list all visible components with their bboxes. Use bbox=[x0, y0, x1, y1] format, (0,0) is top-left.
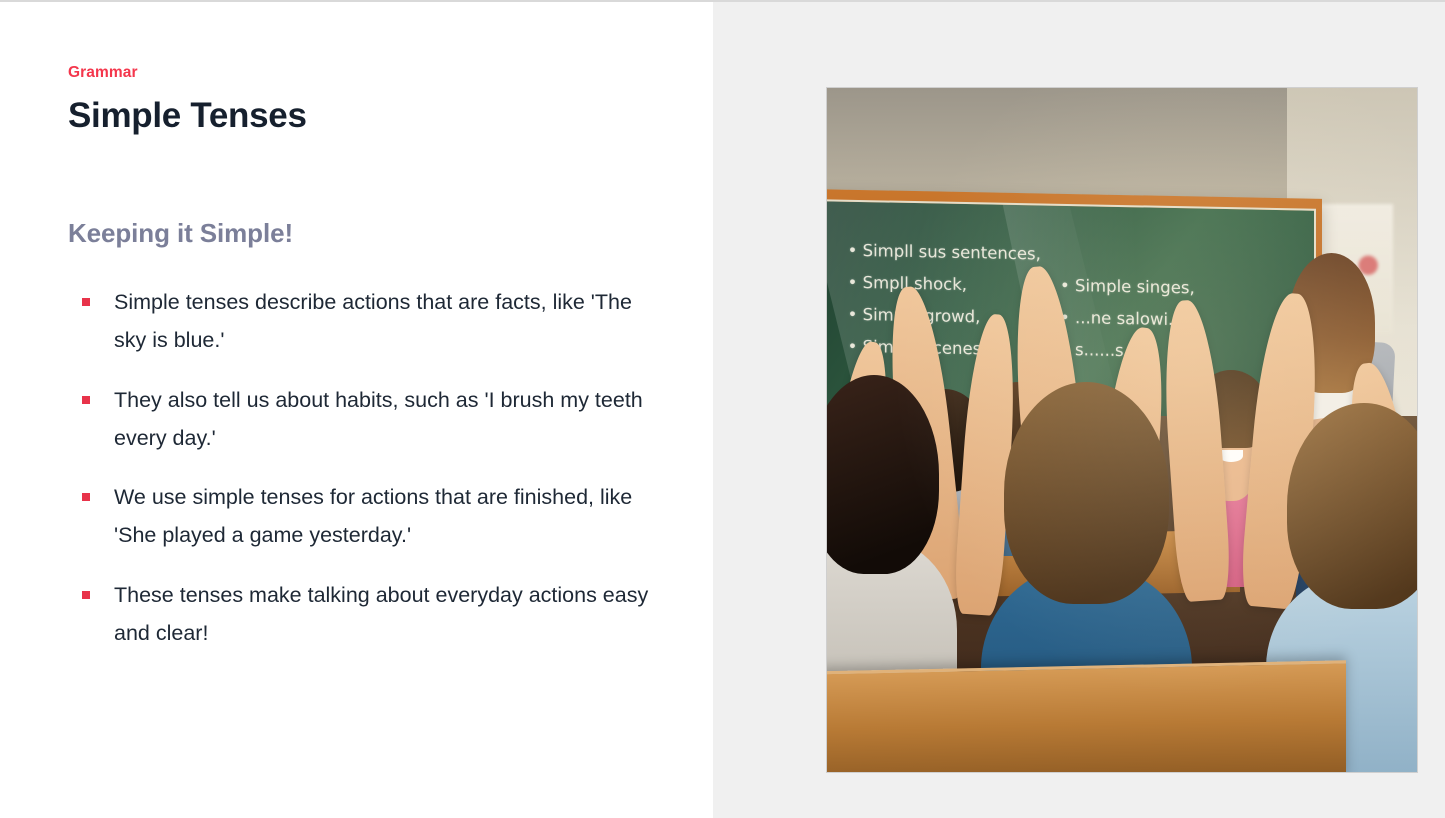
classroom-photo: • Simpll sus sentences, • Smpll shock, •… bbox=[826, 87, 1418, 773]
eyebrow-label: Grammar bbox=[68, 64, 663, 83]
bullet-list: Simple tenses describe actions that are … bbox=[68, 249, 663, 652]
student-back-a bbox=[827, 375, 939, 717]
section-subtitle: Keeping it Simple! bbox=[68, 136, 663, 249]
photo-scene: • Simpll sus sentences, • Smpll shock, •… bbox=[827, 88, 1417, 772]
page-title: Simple Tenses bbox=[68, 96, 663, 136]
list-item-text: We use simple tenses for actions that ar… bbox=[114, 485, 632, 547]
list-item: These tenses make talking about everyday… bbox=[68, 576, 663, 653]
square-bullet-icon bbox=[82, 493, 90, 501]
list-item-text: They also tell us about habits, such as … bbox=[114, 388, 643, 450]
square-bullet-icon bbox=[82, 396, 90, 404]
slide-root: Grammar Simple Tenses Keeping it Simple!… bbox=[0, 0, 1445, 818]
list-item: We use simple tenses for actions that ar… bbox=[68, 478, 663, 555]
chalkboard-line: • Simpll sus sentences, bbox=[848, 234, 1060, 270]
image-panel: • Simpll sus sentences, • Smpll shock, •… bbox=[713, 2, 1445, 818]
square-bullet-icon bbox=[82, 298, 90, 306]
list-item-text: These tenses make talking about everyday… bbox=[114, 583, 648, 645]
student-head bbox=[1004, 382, 1169, 604]
list-item-text: Simple tenses describe actions that are … bbox=[114, 290, 632, 352]
desk-foreground bbox=[827, 661, 1346, 772]
chalkboard-line: • Simple singes, bbox=[1060, 269, 1286, 306]
content-panel: Grammar Simple Tenses Keeping it Simple!… bbox=[0, 2, 713, 818]
student-head bbox=[827, 375, 939, 573]
student-head bbox=[1287, 403, 1417, 609]
list-item: They also tell us about habits, such as … bbox=[68, 381, 663, 458]
square-bullet-icon bbox=[82, 591, 90, 599]
list-item: Simple tenses describe actions that are … bbox=[68, 283, 663, 360]
